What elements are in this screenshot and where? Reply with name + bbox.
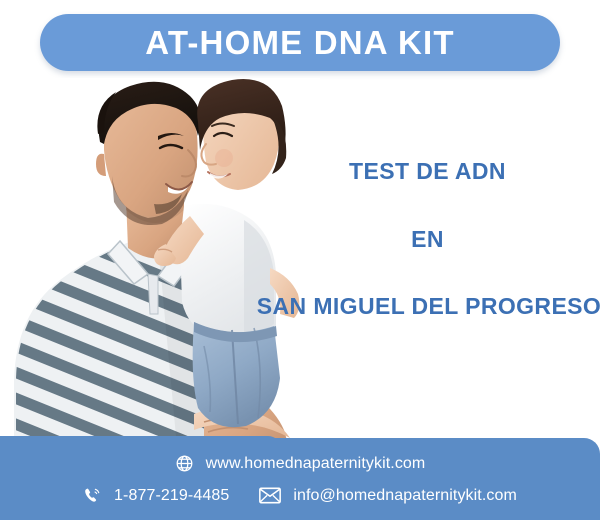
page-title: AT-HOME DNA KIT <box>145 26 454 59</box>
footer-contact-row: 1-877-219-4485 info@homednapaternitykit.… <box>0 486 600 505</box>
website-text[interactable]: www.homednapaternitykit.com <box>206 455 426 473</box>
email-text[interactable]: info@homednapaternitykit.com <box>293 487 517 505</box>
footer-bar: www.homednapaternitykit.com 1-877-219-44… <box>0 438 600 520</box>
phone-text[interactable]: 1-877-219-4485 <box>114 487 229 505</box>
footer-website-row: www.homednapaternitykit.com <box>0 454 600 473</box>
dna-kit-poster: AT-HOME DNA KIT <box>0 0 600 520</box>
globe-icon <box>175 454 194 473</box>
header-banner: AT-HOME DNA KIT <box>40 14 560 71</box>
headline-block: TEST DE ADN EN SAN MIGUEL DEL PROGRESO <box>250 160 600 318</box>
envelope-icon <box>259 487 281 504</box>
headline-line-preposition: EN <box>245 228 600 251</box>
headline-line-location: SAN MIGUEL DEL PROGRESO <box>248 295 600 318</box>
phone-icon <box>83 486 102 505</box>
headline-line-service: TEST DE ADN <box>245 160 600 183</box>
